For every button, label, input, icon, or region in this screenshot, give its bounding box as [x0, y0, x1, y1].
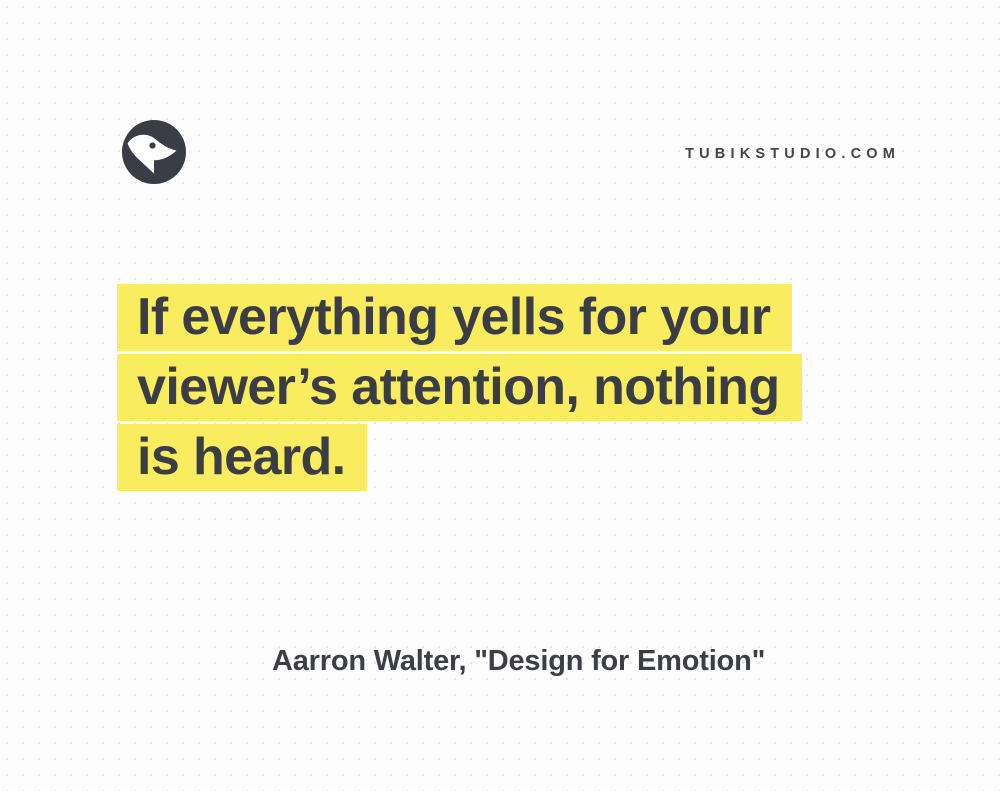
tubik-studio-bird-logo [121, 119, 187, 185]
quote-block: If everything yells for your viewer’s at… [117, 284, 917, 494]
quote-line-text: is heard. [117, 424, 367, 491]
quote-line-text: viewer’s attention, nothing [117, 354, 802, 421]
quote-line: If everything yells for your [117, 284, 917, 351]
quote-card: TUBIKSTUDIO.COM If everything yells for … [0, 0, 1000, 791]
quote-line: is heard. [117, 424, 917, 491]
quote-attribution: Aarron Walter, "Design for Emotion" [272, 645, 765, 678]
quote-line-text: If everything yells for your [117, 284, 792, 351]
quote-line: viewer’s attention, nothing [117, 354, 917, 421]
site-url-label: TUBIKSTUDIO.COM [685, 146, 900, 162]
